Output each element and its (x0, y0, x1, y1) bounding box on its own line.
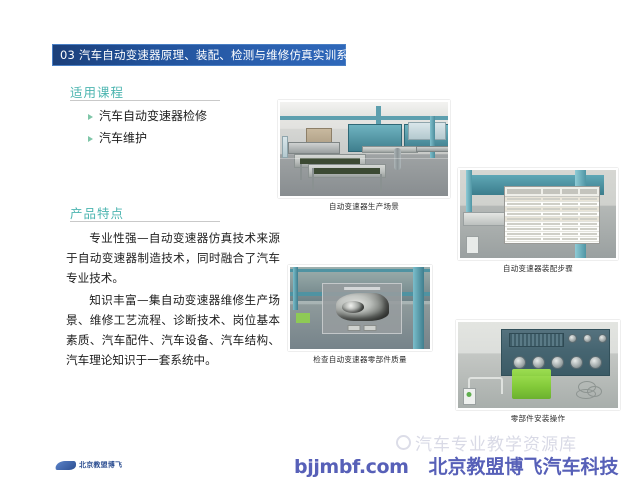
page-title: 03 汽车自动变速器原理、装配、检测与维修仿真实训系统 (60, 47, 360, 63)
scene-badge-icon (463, 388, 476, 405)
watermark-main: bjjmbf.com 北京教盟博飞汽车科技 (294, 452, 618, 479)
assembly-table-dialog (504, 186, 601, 244)
scene-badge-icon (466, 236, 479, 254)
gauge-icon (598, 334, 607, 343)
course-label: 汽车维护 (99, 130, 147, 147)
panel-button-group (348, 325, 377, 331)
course-list: 汽车自动变速器检修 汽车维护 (88, 108, 278, 152)
scene-image-inspection (290, 267, 430, 349)
photo-card-install-operation: 零部件安装操作 (456, 320, 620, 410)
highlighted-component (512, 369, 550, 398)
gauge-icon (589, 356, 602, 369)
watermark-logo-icon (396, 435, 411, 450)
panel-button[interactable] (364, 325, 377, 331)
footer-logo-text: 北京教盟博飞 (79, 460, 122, 470)
photo-card-part-inspection: 检查自动变速器零部件质量 (288, 265, 432, 351)
watermark-company: 北京教盟博飞汽车科技 (428, 456, 618, 478)
photo-frame (288, 265, 432, 351)
highlight-part (296, 313, 310, 323)
gauge-icon (568, 334, 577, 343)
gauge-icon (583, 334, 592, 343)
list-item: 汽车维护 (88, 130, 278, 147)
course-label: 汽车自动变速器检修 (99, 108, 207, 125)
scene-image-install (458, 322, 618, 408)
photo-caption: 零部件安装操作 (456, 413, 620, 424)
slide-title-bar: 03 汽车自动变速器原理、装配、检测与维修仿真实训系统 (52, 44, 346, 66)
heading-divider-courses (70, 100, 220, 101)
bullet-arrow-icon (88, 114, 93, 120)
transmission-part-3d (336, 293, 389, 321)
table-row (505, 237, 600, 242)
gauge-icon (551, 356, 564, 369)
feature-paragraph: 知识丰富—集自动变速器维修生产场景、维修工艺流程、诊断技术、岗位基本素质、汽车配… (66, 290, 280, 370)
photo-caption: 自动变速器装配步骤 (458, 263, 618, 274)
feature-paragraph: 专业性强—自动变速器仿真技术来源于自动变速器制造技术，同时融合了汽车专业技术。 (66, 228, 280, 288)
gauge-icon (513, 356, 526, 369)
scene-image-production (280, 102, 448, 196)
heading-divider-features (70, 221, 220, 222)
photo-frame (458, 168, 618, 260)
photo-card-assembly-steps: 自动变速器装配步骤 (458, 168, 618, 260)
section-heading-features: 产品特点 (70, 203, 124, 222)
car-logo-icon (55, 461, 77, 470)
photo-caption: 检查自动变速器零部件质量 (288, 354, 432, 365)
photo-card-production-scene: 自动变速器生产场景 (278, 100, 450, 198)
section-heading-courses: 适用课程 (70, 82, 124, 101)
gauge-icon (532, 356, 545, 369)
watermark-domain: bjjmbf.com (294, 456, 409, 478)
panel-button[interactable] (348, 325, 361, 331)
gauge-icon (570, 356, 583, 369)
bullet-arrow-icon (88, 136, 93, 142)
dialog-header (505, 187, 600, 197)
photo-frame (456, 320, 620, 410)
scene-image-assembly (460, 170, 616, 258)
wire-harness (575, 377, 610, 398)
part-viewer-panel (322, 283, 402, 334)
features-body: 专业性强—自动变速器仿真技术来源于自动变速器制造技术，同时融合了汽车专业技术。 … (66, 228, 280, 372)
footer-logo: 北京教盟博飞 (56, 460, 122, 470)
photo-caption: 自动变速器生产场景 (278, 201, 450, 212)
panel-title-bar (344, 287, 380, 290)
list-item: 汽车自动变速器检修 (88, 108, 278, 125)
photo-frame (278, 100, 450, 198)
